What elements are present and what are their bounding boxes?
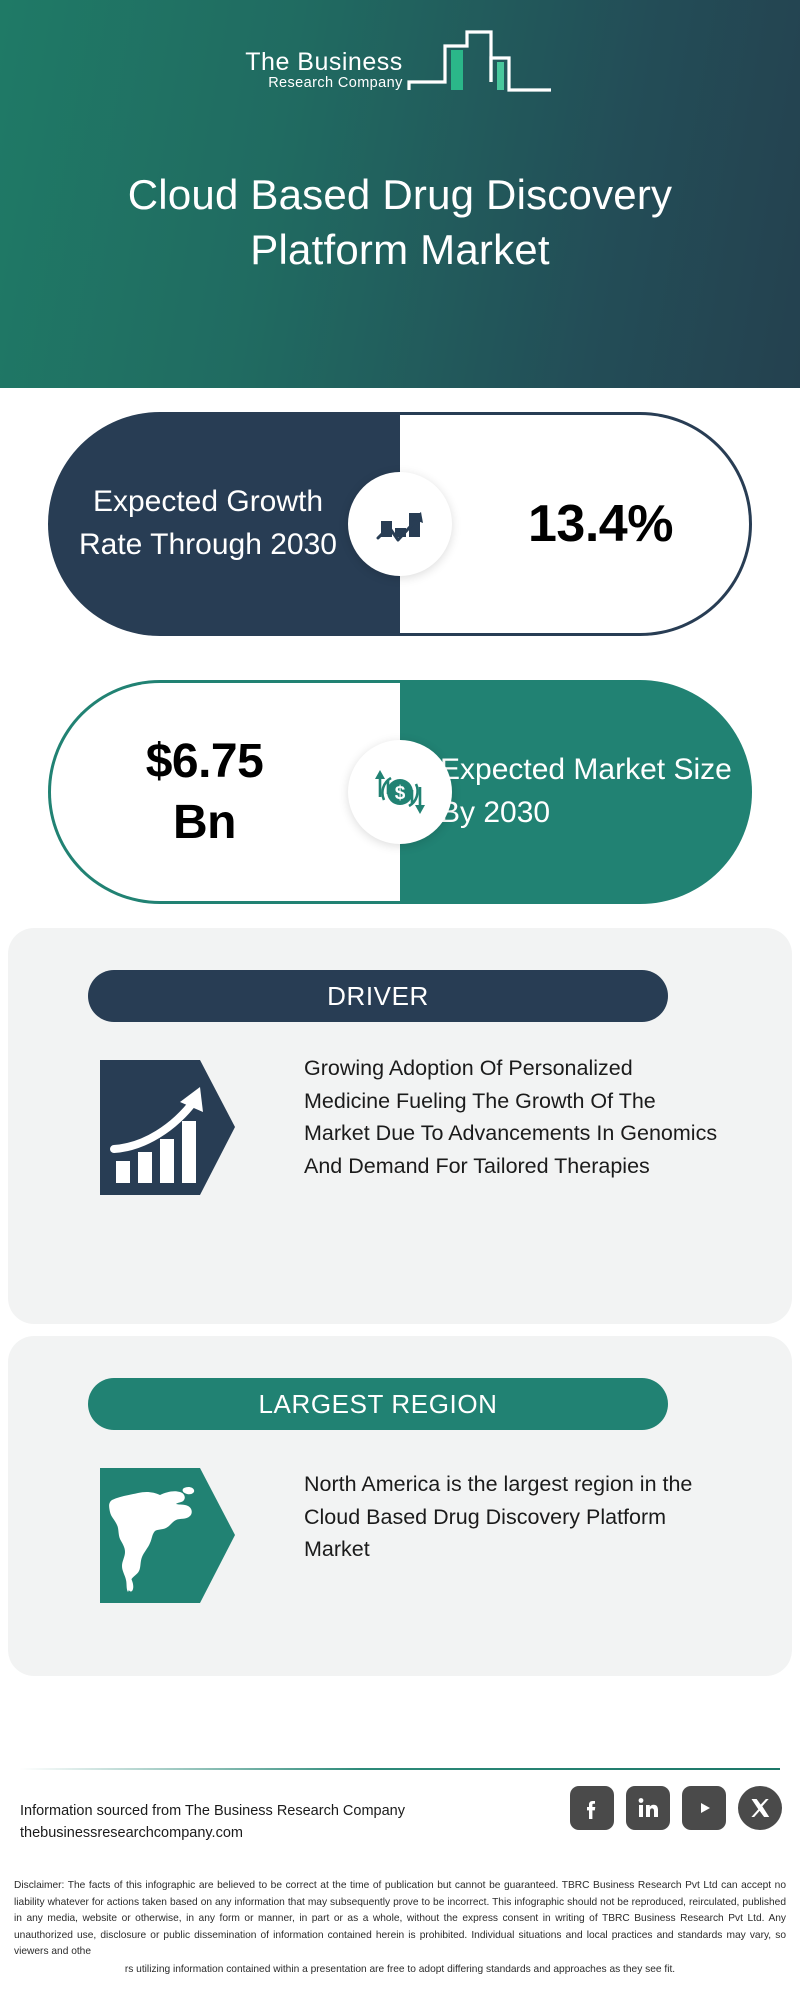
logo-primary-text: The Business — [245, 49, 402, 76]
bar-chart-logo-icon — [405, 24, 555, 96]
social-links — [570, 1786, 782, 1830]
stat-card-growth-rate: Expected Growth Rate Through 2030 13.4% — [48, 412, 752, 636]
ascending-bars-arrow-pentagon-icon — [100, 1060, 235, 1195]
panel-driver: DRIVER Growing Adoption Of Personalized … — [8, 928, 792, 1324]
logo-secondary-text: Research Company — [268, 76, 403, 92]
largest-region-heading: LARGEST REGION — [258, 1389, 497, 1420]
youtube-icon[interactable] — [682, 1786, 726, 1830]
page-title: Cloud Based Drug Discovery Platform Mark… — [0, 168, 800, 277]
growth-rate-value-panel: 13.4% — [400, 412, 752, 636]
disclaimer-text: Disclaimer: The facts of this infographi… — [14, 1878, 786, 1961]
north-america-map-pentagon-icon — [100, 1468, 235, 1603]
market-size-value: $6.75 Bn — [146, 731, 306, 854]
dollar-refresh-icon: $ — [348, 740, 452, 844]
market-size-label-panel: Expected Market Size By 2030 — [400, 680, 752, 904]
header-banner: The Business Research Company Cloud Base… — [0, 0, 800, 388]
svg-text:$: $ — [395, 783, 406, 804]
growth-rate-value: 13.4% — [476, 494, 673, 554]
largest-region-heading-pill: LARGEST REGION — [88, 1378, 668, 1430]
logo-text: The Business Research Company — [245, 49, 402, 96]
market-size-label: Expected Market Size By 2030 — [400, 749, 752, 834]
x-twitter-icon[interactable] — [738, 1786, 782, 1830]
market-size-value-line1: $6.75 — [146, 735, 264, 788]
stat-card-market-size: $6.75 Bn Expected Market Size By 2030 $ — [48, 680, 752, 904]
panel-largest-region: LARGEST REGION North America is the larg… — [8, 1336, 792, 1676]
driver-text: Growing Adoption Of Personalized Medicin… — [304, 1052, 724, 1183]
footer-divider — [20, 1768, 780, 1770]
source-line-2[interactable]: thebusinessresearchcompany.com — [20, 1822, 500, 1844]
driver-heading: DRIVER — [327, 981, 429, 1012]
growth-chart-arrow-icon — [348, 472, 452, 576]
market-size-value-line2: Bn — [173, 796, 236, 849]
source-line-1: Information sourced from The Business Re… — [20, 1800, 500, 1822]
facebook-icon[interactable] — [570, 1786, 614, 1830]
source-attribution: Information sourced from The Business Re… — [20, 1800, 500, 1845]
linkedin-icon[interactable] — [626, 1786, 670, 1830]
disclaimer-text-last-line: rs utilizing information contained withi… — [14, 1962, 786, 1979]
driver-heading-pill: DRIVER — [88, 970, 668, 1022]
company-logo: The Business Research Company — [0, 24, 800, 96]
largest-region-text: North America is the largest region in t… — [304, 1468, 724, 1566]
